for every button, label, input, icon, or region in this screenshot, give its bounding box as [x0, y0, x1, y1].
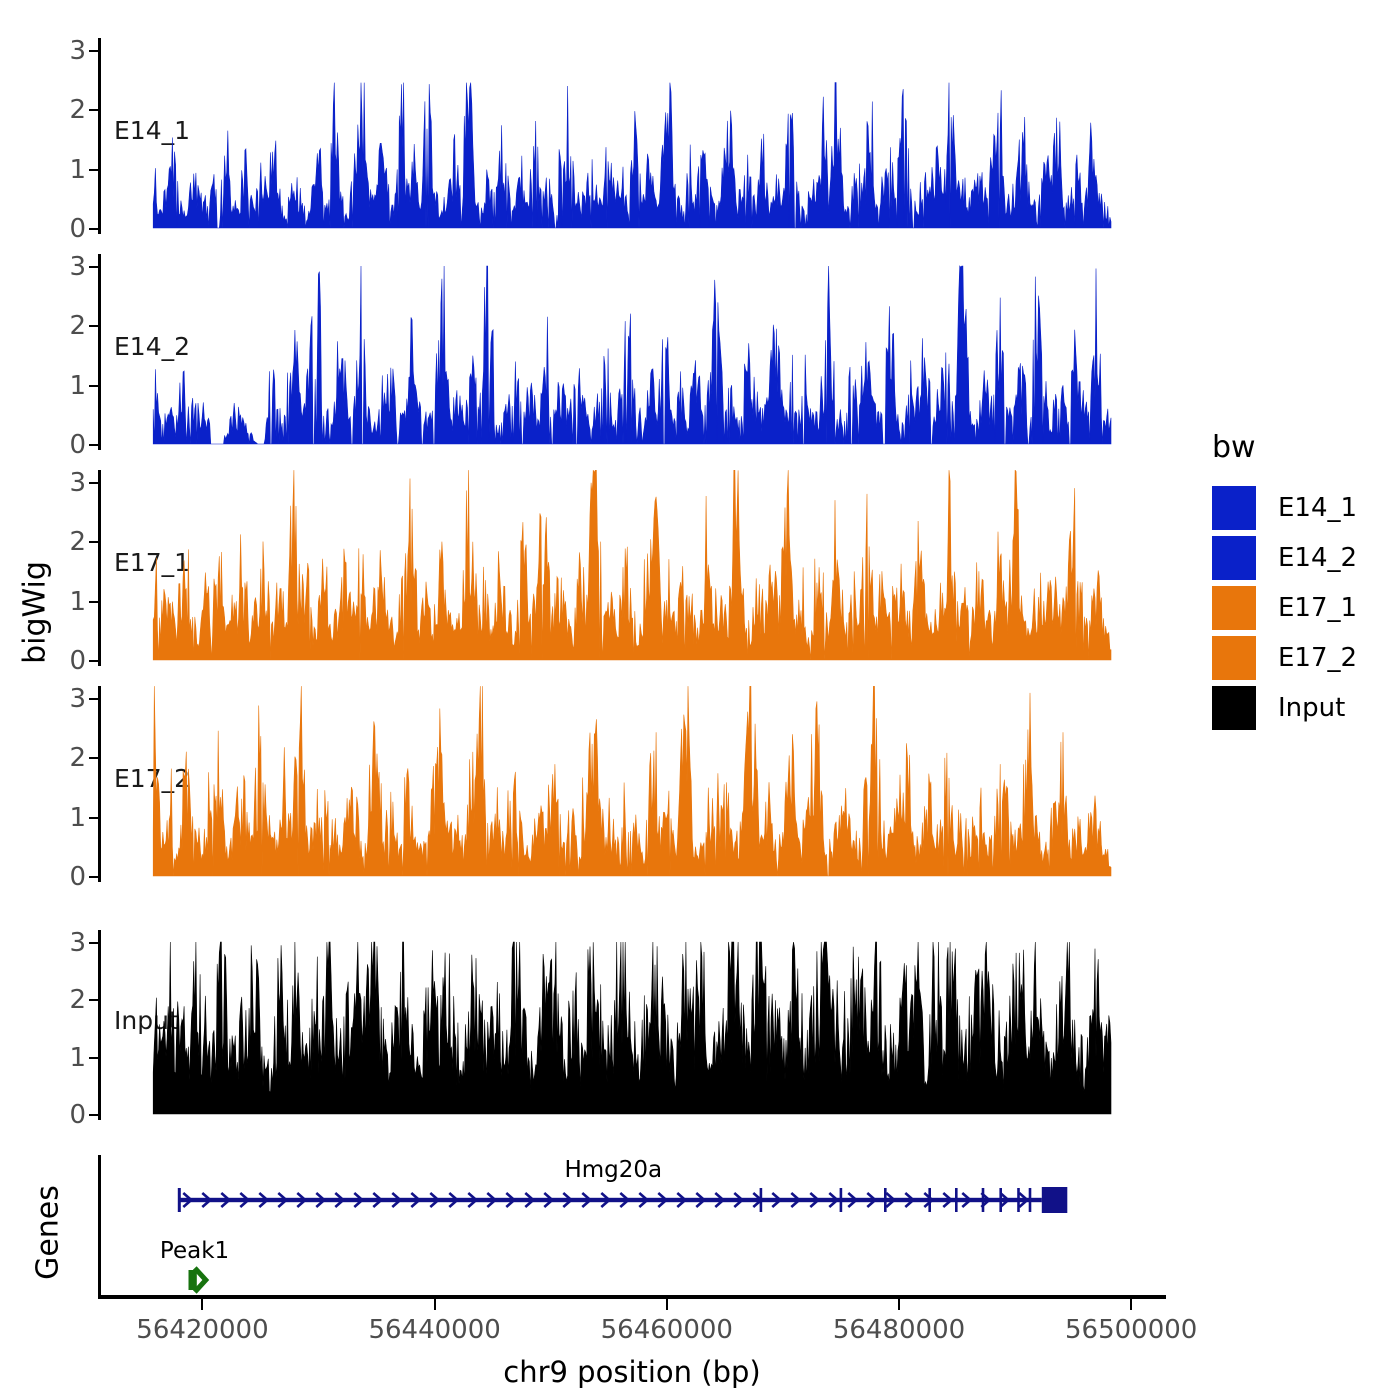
x-tick — [666, 1299, 668, 1310]
signal-area-input — [101, 930, 1166, 1120]
y-tick — [89, 228, 98, 230]
y-tick — [89, 942, 98, 944]
y-axis-title: bigWig — [18, 518, 53, 708]
signal-area-e17_2 — [101, 686, 1166, 882]
x-tick-label: 56420000 — [136, 1315, 268, 1345]
y-tick — [89, 1057, 98, 1059]
x-axis-line — [98, 1295, 1166, 1299]
y-tick — [89, 444, 98, 446]
y-tick — [89, 541, 98, 543]
y-tick-label: 0 — [69, 214, 86, 244]
x-tick — [201, 1299, 203, 1310]
y-tick — [89, 817, 98, 819]
y-tick — [89, 109, 98, 111]
x-tick-label: 56500000 — [1065, 1315, 1197, 1345]
y-tick-label: 2 — [69, 95, 86, 125]
y-tick-label: 3 — [69, 928, 86, 958]
track-panel-e17_1: 0123E17_1 — [98, 470, 1166, 666]
y-tick-label: 2 — [69, 527, 86, 557]
y-tick-label: 1 — [69, 587, 86, 617]
x-axis: 5642000056440000564600005648000056500000 — [0, 1295, 1400, 1355]
y-tick — [89, 601, 98, 603]
legend-item-input[interactable]: Input — [1212, 683, 1357, 733]
legend-item-e17_1[interactable]: E17_1 — [1212, 583, 1357, 633]
genes-panel: Hmg20aPeak1 — [0, 1155, 1400, 1295]
legend-label-e14_2: E14_2 — [1278, 543, 1357, 573]
signal-area-e14_2 — [101, 254, 1166, 450]
y-tick-label: 0 — [69, 1100, 86, 1130]
y-tick-label: 3 — [69, 36, 86, 66]
legend: bw E14_1E14_2E17_1E17_2Input — [1212, 430, 1357, 733]
track-panel-input: 0123Input — [98, 930, 1166, 1120]
legend-label-input: Input — [1278, 693, 1345, 723]
y-tick-label: 1 — [69, 371, 86, 401]
legend-swatch-input — [1212, 686, 1256, 730]
y-tick-label: 0 — [69, 430, 86, 460]
legend-title: bw — [1212, 430, 1357, 465]
legend-swatch-e17_2 — [1212, 636, 1256, 680]
y-tick — [89, 325, 98, 327]
y-tick — [89, 482, 98, 484]
y-tick-label: 1 — [69, 803, 86, 833]
legend-label-e14_1: E14_1 — [1278, 493, 1357, 523]
legend-label-e17_2: E17_2 — [1278, 643, 1357, 673]
y-tick — [89, 660, 98, 662]
peak-feature-peak1[interactable] — [0, 1155, 1400, 1295]
x-tick — [1130, 1299, 1132, 1310]
track-panel-e17_2: 0123E17_2 — [98, 686, 1166, 882]
legend-item-e14_1[interactable]: E14_1 — [1212, 483, 1357, 533]
y-tick-label: 3 — [69, 684, 86, 714]
legend-item-e17_2[interactable]: E17_2 — [1212, 633, 1357, 683]
y-tick — [89, 757, 98, 759]
y-tick-label: 2 — [69, 743, 86, 773]
y-tick — [89, 698, 98, 700]
y-tick-label: 0 — [69, 646, 86, 676]
y-tick-label: 1 — [69, 155, 86, 185]
x-axis-title: chr9 position (bp) — [98, 1355, 1166, 1389]
y-tick-label: 3 — [69, 252, 86, 282]
track-panel-e14_1: 0123E14_1 — [98, 38, 1166, 234]
legend-swatch-e17_1 — [1212, 586, 1256, 630]
x-tick-label: 56440000 — [368, 1315, 500, 1345]
y-tick — [89, 876, 98, 878]
track-panel-e14_2: 0123E14_2 — [98, 254, 1166, 450]
x-tick-label: 56480000 — [833, 1315, 965, 1345]
y-tick-label: 0 — [69, 862, 86, 892]
genome-browser-figure: bigWig Genes 0123E14_10123E14_20123E17_1… — [0, 0, 1400, 1400]
peak-name-label: Peak1 — [160, 1238, 229, 1264]
y-tick-label: 1 — [69, 1043, 86, 1073]
legend-swatch-e14_1 — [1212, 486, 1256, 530]
y-tick — [89, 266, 98, 268]
y-tick-label: 2 — [69, 985, 86, 1015]
x-tick-label: 56460000 — [601, 1315, 733, 1345]
legend-label-e17_1: E17_1 — [1278, 593, 1357, 623]
legend-swatch-e14_2 — [1212, 536, 1256, 580]
y-tick-label: 3 — [69, 468, 86, 498]
y-tick — [89, 999, 98, 1001]
y-tick — [89, 1114, 98, 1116]
legend-item-e14_2[interactable]: E14_2 — [1212, 533, 1357, 583]
y-tick — [89, 169, 98, 171]
x-tick — [898, 1299, 900, 1310]
signal-area-e17_1 — [101, 470, 1166, 666]
signal-area-e14_1 — [101, 38, 1166, 234]
y-tick-label: 2 — [69, 311, 86, 341]
y-tick — [89, 385, 98, 387]
x-tick — [434, 1299, 436, 1310]
y-tick — [89, 50, 98, 52]
